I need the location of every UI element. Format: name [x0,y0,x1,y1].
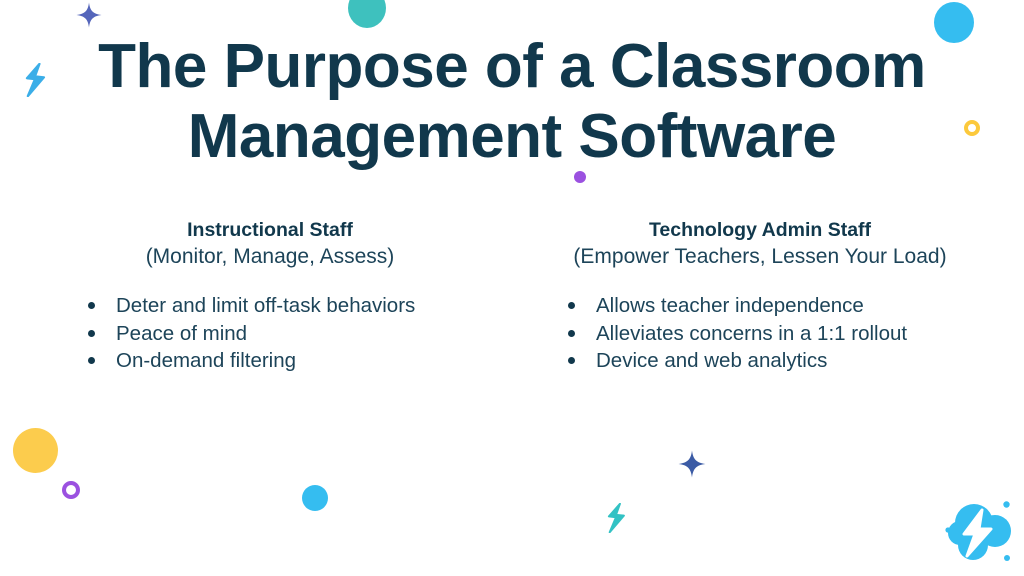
bullet-list: Deter and limit off-task behaviors Peace… [30,292,510,375]
page-title-line-1: The Purpose of a Classroom [0,32,1024,102]
bullet-dot-icon [88,302,95,309]
column-subheading: (Empower Teachers, Lessen Your Load) [515,243,1005,270]
bullet-dot-icon [568,302,575,309]
list-item: Peace of mind [88,320,510,348]
lightning-bolt-icon [604,503,628,533]
list-item-label: Allows teacher independence [596,294,864,317]
list-item-label: On-demand filtering [116,349,296,372]
column-technology-admin-staff: Technology Admin Staff (Empower Teachers… [515,218,1005,375]
bullet-dot-icon [568,330,575,337]
lightning-cloud-logo [938,489,1022,573]
list-item: Alleviates concerns in a 1:1 rollout [568,320,1005,348]
bullet-list: Allows teacher independence Alleviates c… [515,292,1005,375]
column-heading: Technology Admin Staff [515,218,1005,243]
list-item: Deter and limit off-task behaviors [88,292,510,320]
list-item: Allows teacher independence [568,292,1005,320]
column-heading: Instructional Staff [30,218,510,243]
sparkle-star-icon [678,450,706,478]
slide-canvas: The Purpose of a Classroom Management So… [0,0,1024,576]
purple-dot-icon [574,171,586,183]
list-item-label: Alleviates concerns in a 1:1 rollout [596,322,907,345]
columns-container: Instructional Staff (Monitor, Manage, As… [0,218,1024,398]
list-item-label: Device and web analytics [596,349,827,372]
purple-ring-icon [62,481,80,499]
bullet-dot-icon [88,330,95,337]
list-item: On-demand filtering [88,347,510,375]
list-item: Device and web analytics [568,347,1005,375]
column-subheading: (Monitor, Manage, Assess) [30,243,510,270]
blue-circle-icon [302,485,328,511]
page-title-line-2: Management Software [0,102,1024,172]
column-instructional-staff: Instructional Staff (Monitor, Manage, As… [30,218,510,375]
bullet-dot-icon [88,357,95,364]
yellow-circle-icon [13,428,58,473]
teal-circle-icon [348,0,386,28]
list-item-label: Deter and limit off-task behaviors [116,294,415,317]
sparkle-star-icon [76,2,102,28]
bullet-dot-icon [568,357,575,364]
list-item-label: Peace of mind [116,322,247,345]
page-title: The Purpose of a Classroom Management So… [0,32,1024,172]
